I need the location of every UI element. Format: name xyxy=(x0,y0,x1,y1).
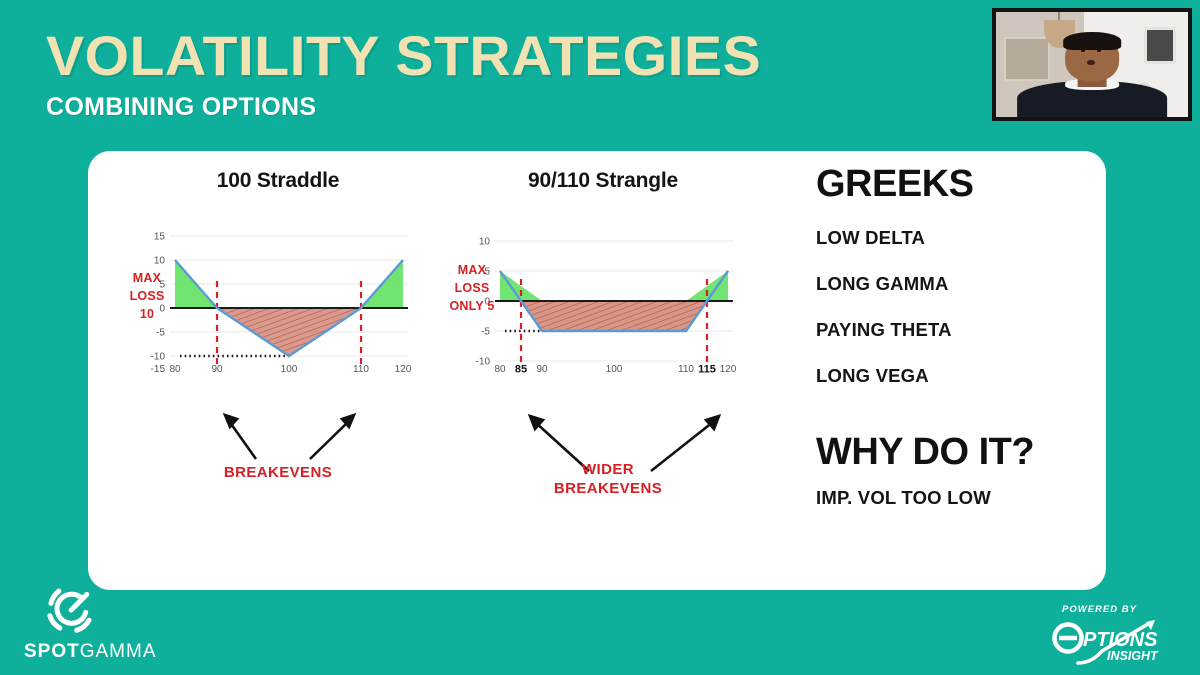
svg-text:100: 100 xyxy=(606,364,623,373)
strangle-arrow-left-head xyxy=(530,416,543,429)
powered-by-label: POWERED BY xyxy=(1062,604,1186,615)
straddle-max-loss-line2: LOSS xyxy=(120,287,174,305)
strangle-max-loss-annotation: MAX LOSS ONLY 5 xyxy=(441,261,503,315)
why-do-it-reason: IMP. VOL TOO LOW xyxy=(816,487,1091,509)
slide-header: VOLATILITY STRATEGIES COMBINING OPTIONS xyxy=(46,28,747,122)
strangle-max-loss-line3: ONLY 5 xyxy=(441,297,503,315)
straddle-x-axis-labels: 80 90 100 110 120 xyxy=(169,364,411,373)
straddle-max-loss-line3: 10 xyxy=(120,305,174,323)
spotgamma-wordmark: SPOTGAMMA xyxy=(24,641,194,663)
strangle-x-axis-labels: 80 85 90 100 110 115 120 xyxy=(494,364,736,374)
svg-text:120: 120 xyxy=(720,364,737,373)
page-title: VOLATILITY STRATEGIES xyxy=(46,28,761,84)
svg-text:120: 120 xyxy=(395,364,412,373)
svg-text:90: 90 xyxy=(211,364,223,373)
wall-picture-frame xyxy=(1144,27,1177,65)
chart-straddle-title: 100 Straddle xyxy=(108,169,448,193)
svg-text:85: 85 xyxy=(515,364,527,374)
svg-text:80: 80 xyxy=(169,364,181,373)
svg-text:10: 10 xyxy=(479,237,491,248)
svg-text:110: 110 xyxy=(353,364,369,373)
straddle-arrow-left-head xyxy=(225,415,237,427)
svg-text:-10: -10 xyxy=(151,352,166,363)
strangle-loss-area xyxy=(521,301,707,331)
svg-text:-10: -10 xyxy=(476,357,491,368)
spotgamma-logo: SPOTGAMMA xyxy=(24,581,194,663)
insight-wordmark-text: INSIGHT xyxy=(1107,649,1159,663)
strangle-profit-area xyxy=(500,271,728,301)
strangle-breakevens-line1: WIDER xyxy=(513,461,703,480)
options-insight-logo: POWERED BY PTIONS INSIGHT xyxy=(1048,604,1186,665)
spotgamma-mark-icon xyxy=(42,581,98,637)
strangle-breakevens-line2: BREAKEVENS xyxy=(513,480,703,499)
presenter-video-feed[interactable] xyxy=(992,8,1192,121)
mirror-decor xyxy=(1004,37,1050,81)
straddle-y-axis-label-min: -15 xyxy=(151,364,166,373)
svg-text:-5: -5 xyxy=(156,328,165,339)
greeks-panel: GREEKS LOW DELTA LONG GAMMA PAYING THETA… xyxy=(816,165,1091,509)
svg-text:100: 100 xyxy=(281,364,298,373)
chart-strangle-title: 90/110 Strangle xyxy=(433,169,773,193)
straddle-arrow-right-head xyxy=(342,415,354,427)
slide-content-card: 100 Straddle xyxy=(88,151,1106,590)
strangle-max-loss-line1: MAX xyxy=(441,261,503,279)
svg-text:115: 115 xyxy=(698,364,716,374)
page-subtitle: COMBINING OPTIONS xyxy=(46,93,747,122)
greeks-heading: GREEKS xyxy=(816,165,1091,203)
greeks-list: LOW DELTA LONG GAMMA PAYING THETA LONG V… xyxy=(816,227,1091,387)
svg-text:-5: -5 xyxy=(481,327,490,338)
presenter-mouth xyxy=(1087,60,1095,65)
spotgamma-word-thin: GAMMA xyxy=(80,641,157,662)
svg-text:80: 80 xyxy=(494,364,506,373)
svg-text:10: 10 xyxy=(154,256,166,267)
chart-straddle: 100 Straddle xyxy=(108,169,448,373)
chart-strangle: 90/110 Strangle xyxy=(433,169,773,373)
presenter-hair xyxy=(1063,32,1121,50)
svg-text:110: 110 xyxy=(678,364,694,373)
straddle-breakevens-annotation: BREAKEVENS xyxy=(168,464,388,483)
straddle-arrow-left-shaft xyxy=(229,421,256,459)
video-scene xyxy=(996,12,1188,117)
strangle-breakevens-annotation: WIDER BREAKEVENS xyxy=(513,461,703,499)
straddle-max-loss-annotation: MAX LOSS 10 xyxy=(120,269,174,323)
options-insight-mark-icon: PTIONS INSIGHT xyxy=(1048,615,1180,665)
presenter-eye-right xyxy=(1097,49,1101,52)
straddle-max-loss-line1: MAX xyxy=(120,269,174,287)
spotgamma-word-bold: SPOT xyxy=(24,641,80,662)
greeks-item-long-vega: LONG VEGA xyxy=(816,365,1091,387)
strangle-arrow-right-head xyxy=(706,416,719,429)
greeks-item-paying-theta: PAYING THETA xyxy=(816,319,1091,341)
svg-text:15: 15 xyxy=(154,232,166,243)
strangle-max-loss-line2: LOSS xyxy=(441,279,503,297)
why-do-it-heading: WHY DO IT? xyxy=(816,433,1091,471)
straddle-arrow-right-shaft xyxy=(310,421,349,459)
svg-text:90: 90 xyxy=(536,364,548,373)
greeks-item-low-delta: LOW DELTA xyxy=(816,227,1091,249)
greeks-item-long-gamma: LONG GAMMA xyxy=(816,273,1091,295)
